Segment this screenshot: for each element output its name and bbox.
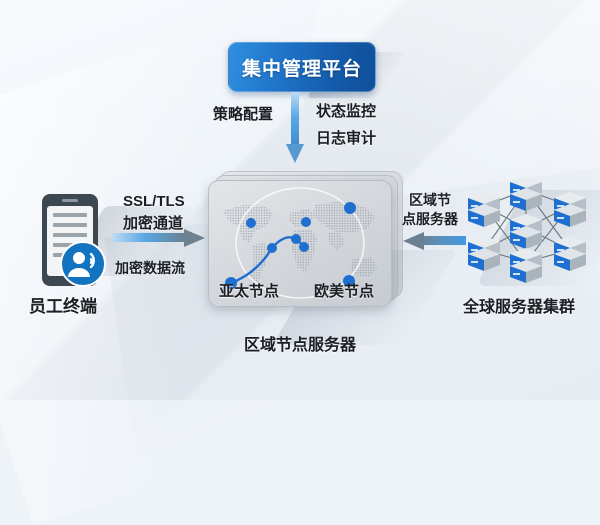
central-management-platform-box[interactable]: 集中管理平台 [228, 42, 376, 92]
platform-box-label: 集中管理平台 [242, 54, 362, 81]
label-policy-config: 策略配置 [213, 103, 273, 124]
arrow-down-icon [285, 92, 305, 164]
label-regional-node-line2: 点服务器 [402, 209, 458, 229]
label-apac-node: 亚太节点 [219, 280, 279, 301]
diagram-canvas: 集中管理平台 策略配置 状态监控 日志审计 员工终端 [0, 0, 600, 400]
label-regional-node-servers: 区域节点服务器 [244, 331, 356, 355]
label-global-server-cluster: 全球服务器集群 [463, 293, 575, 317]
regional-node-map-card[interactable]: 亚太节点 欧美节点 [208, 180, 392, 307]
arrow-right-icon [112, 228, 206, 248]
label-encrypted-data-flow: 加密数据流 [115, 258, 185, 278]
label-emea-node: 欧美节点 [314, 280, 374, 301]
label-ssl-tls: SSL/TLS [123, 193, 185, 210]
label-regional-node-line1: 区域节 [409, 190, 451, 210]
arrow-left-icon [402, 231, 466, 251]
label-employee-terminal: 员工终端 [29, 292, 97, 317]
label-log-audit: 日志审计 [316, 127, 376, 148]
user-signal-icon [60, 241, 106, 287]
server-cluster-icon [462, 176, 592, 288]
label-status-monitor: 状态监控 [316, 100, 376, 121]
